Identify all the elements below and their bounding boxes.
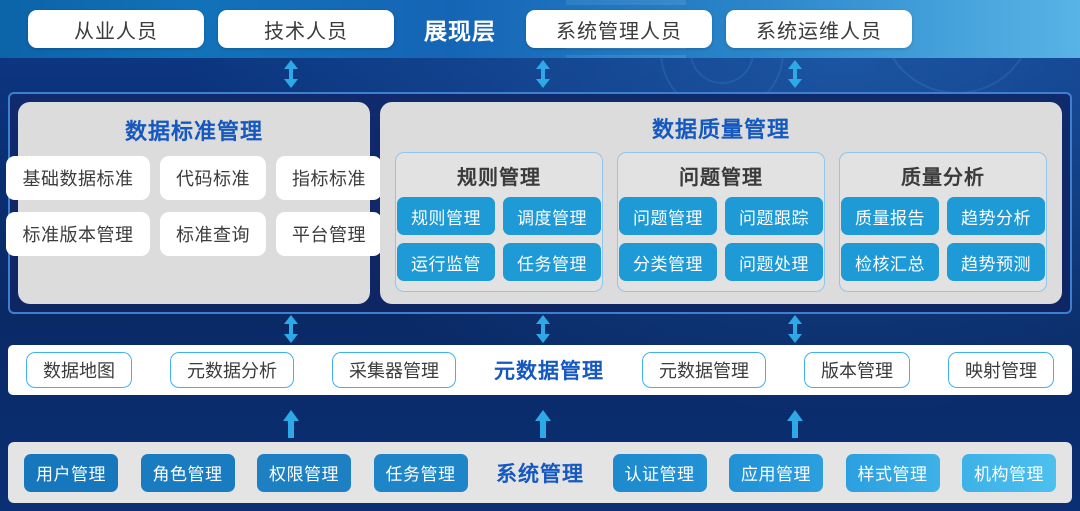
connector-arrow-double-6 (786, 315, 804, 343)
connector-arrow-double-4 (282, 315, 300, 343)
button-task-mgmt[interactable]: 任务管理 (503, 243, 601, 281)
sys-button-task-mgmt[interactable]: 任务管理 (374, 454, 468, 492)
system-layer-row: 用户管理 角色管理 权限管理 任务管理 系统管理 认证管理 应用管理 样式管理 … (8, 442, 1072, 503)
sys-button-permission-mgmt[interactable]: 权限管理 (257, 454, 351, 492)
button-runtime-supervision[interactable]: 运行监管 (397, 243, 495, 281)
sys-button-auth-mgmt[interactable]: 认证管理 (613, 454, 707, 492)
meta-pill-collector-mgmt[interactable]: 采集器管理 (332, 352, 456, 388)
data-quality-title: 数据质量管理 (652, 112, 790, 144)
data-quality-groups: 规则管理 规则管理 调度管理 运行监管 任务管理 问题管理 问题管理 问题跟踪 … (392, 152, 1050, 292)
metadata-layer-row: 数据地图 元数据分析 采集器管理 元数据管理 元数据管理 版本管理 映射管理 (8, 345, 1072, 395)
sys-button-app-mgmt[interactable]: 应用管理 (729, 454, 823, 492)
metadata-layer-title: 元数据管理 (494, 355, 604, 385)
data-quality-card: 数据质量管理 规则管理 规则管理 调度管理 运行监管 任务管理 问题管理 问题管… (380, 102, 1062, 304)
data-standard-grid: 基础数据标准 代码标准 指标标准 标准版本管理 标准查询 平台管理 (6, 156, 382, 256)
button-quality-report[interactable]: 质量报告 (841, 197, 939, 235)
connector-arrow-up-1 (282, 410, 300, 438)
connector-arrow-up-3 (786, 410, 804, 438)
std-chip-standard-query[interactable]: 标准查询 (160, 212, 266, 256)
button-issue-mgmt[interactable]: 问题管理 (619, 197, 717, 235)
data-standard-row: 标准版本管理 标准查询 平台管理 (6, 212, 382, 256)
issue-management-buttons: 问题管理 问题跟踪 分类管理 问题处理 (619, 197, 823, 281)
core-layer-panel: 数据标准管理 基础数据标准 代码标准 指标标准 标准版本管理 标准查询 平台管理… (8, 92, 1072, 314)
presentation-layer-bar: 从业人员 技术人员 展现层 系统管理人员 系统运维人员 (0, 0, 1080, 58)
std-chip-platform-mgmt[interactable]: 平台管理 (276, 212, 382, 256)
role-chip-technician[interactable]: 技术人员 (218, 10, 394, 48)
button-rule-mgmt[interactable]: 规则管理 (397, 197, 495, 235)
sys-button-user-mgmt[interactable]: 用户管理 (24, 454, 118, 492)
button-issue-handling[interactable]: 问题处理 (725, 243, 823, 281)
role-chip-system-admin[interactable]: 系统管理人员 (526, 10, 712, 48)
quality-analysis-buttons: 质量报告 趋势分析 检核汇总 趋势预测 (841, 197, 1045, 281)
std-chip-version-mgmt[interactable]: 标准版本管理 (6, 212, 150, 256)
std-chip-basic-data[interactable]: 基础数据标准 (6, 156, 150, 200)
connector-arrow-double-3 (786, 60, 804, 88)
data-standard-row: 基础数据标准 代码标准 指标标准 (6, 156, 382, 200)
sys-button-org-mgmt[interactable]: 机构管理 (962, 454, 1056, 492)
meta-pill-mapping-mgmt[interactable]: 映射管理 (948, 352, 1054, 388)
connector-arrow-up-2 (534, 410, 552, 438)
button-trend-analysis[interactable]: 趋势分析 (947, 197, 1045, 235)
architecture-diagram: 从业人员 技术人员 展现层 系统管理人员 系统运维人员 数据标准管理 基础数据标… (0, 0, 1080, 511)
button-audit-summary[interactable]: 检核汇总 (841, 243, 939, 281)
rule-management-buttons: 规则管理 调度管理 运行监管 任务管理 (397, 197, 601, 281)
role-chip-system-ops[interactable]: 系统运维人员 (726, 10, 912, 48)
quality-analysis-title: 质量分析 (901, 161, 985, 190)
meta-pill-metadata-mgmt[interactable]: 元数据管理 (642, 352, 766, 388)
issue-management-title: 问题管理 (679, 161, 763, 190)
system-layer-title: 系统管理 (490, 458, 590, 488)
presentation-layer-title: 展现层 (408, 12, 512, 46)
button-issue-tracking[interactable]: 问题跟踪 (725, 197, 823, 235)
button-schedule-mgmt[interactable]: 调度管理 (503, 197, 601, 235)
meta-pill-metadata-analysis[interactable]: 元数据分析 (170, 352, 294, 388)
sys-button-style-mgmt[interactable]: 样式管理 (846, 454, 940, 492)
connector-arrow-double-2 (534, 60, 552, 88)
connector-arrow-double-5 (534, 315, 552, 343)
data-standard-card: 数据标准管理 基础数据标准 代码标准 指标标准 标准版本管理 标准查询 平台管理 (18, 102, 370, 304)
connector-arrow-double-1 (282, 60, 300, 88)
std-chip-code-standard[interactable]: 代码标准 (160, 156, 266, 200)
sys-button-role-mgmt[interactable]: 角色管理 (141, 454, 235, 492)
quality-analysis-group: 质量分析 质量报告 趋势分析 检核汇总 趋势预测 (839, 152, 1047, 292)
rule-management-title: 规则管理 (457, 161, 541, 190)
std-chip-index-standard[interactable]: 指标标准 (276, 156, 382, 200)
meta-pill-data-map[interactable]: 数据地图 (26, 352, 132, 388)
button-trend-forecast[interactable]: 趋势预测 (947, 243, 1045, 281)
role-chip-practitioner[interactable]: 从业人员 (28, 10, 204, 48)
issue-management-group: 问题管理 问题管理 问题跟踪 分类管理 问题处理 (617, 152, 825, 292)
data-standard-title: 数据标准管理 (125, 114, 263, 146)
button-classification-mgmt[interactable]: 分类管理 (619, 243, 717, 281)
rule-management-group: 规则管理 规则管理 调度管理 运行监管 任务管理 (395, 152, 603, 292)
meta-pill-version-mgmt[interactable]: 版本管理 (804, 352, 910, 388)
